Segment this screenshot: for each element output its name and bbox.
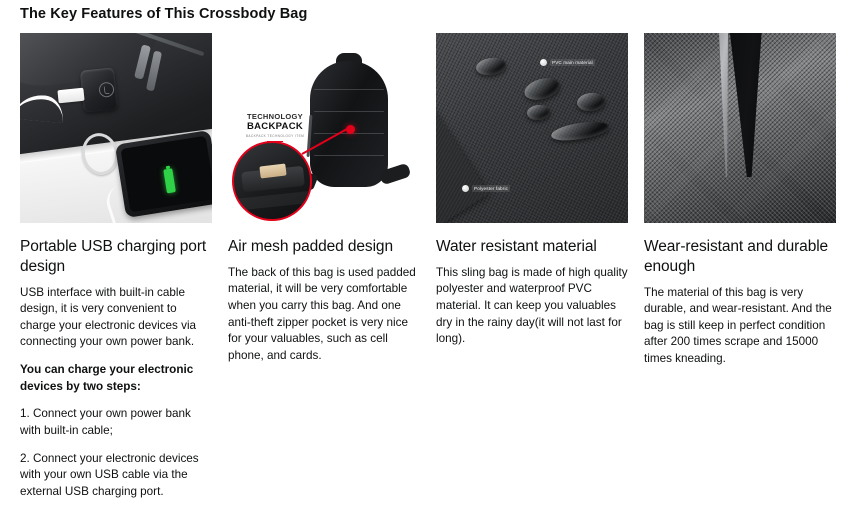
water-droplet [522,74,562,103]
feature-paragraph: The material of this bag is very durable… [644,285,836,368]
callout-magnifier-circle [232,141,312,221]
feature-heading: Portable USB charging port design [20,237,212,277]
usb-charging-port-photo [20,33,212,223]
feature-paragraph: 2. Connect your electronic devices with … [20,451,212,501]
water-droplets-fabric-photo: PVC main material Polyester fabric [436,33,628,223]
feature-column-1: Portable USB charging port design USB in… [20,33,212,511]
feature-heading: Air mesh padded design [228,237,420,257]
pocket-band [234,191,311,211]
usb-logo-icon [98,81,114,97]
knife-edge [712,33,728,177]
backpack-anti-theft-pocket-photo: TECHNOLOGY BACKPACK BACKPACK TECHNOLOGY … [228,33,420,223]
water-droplet [576,92,606,113]
fabric-fold [436,51,489,223]
feature-section: The Key Features of This Crossbody Bag [0,0,860,467]
brand-line-3: BACKPACK TECHNOLOGY ITEM [238,134,312,138]
tag-bullet-icon [540,59,547,66]
usb-port [80,67,118,112]
water-droplet [475,56,507,77]
tag-label: Polyester fabric [472,185,510,192]
usb-plug [57,88,84,104]
material-tag-polyester: Polyester fabric [462,185,510,192]
feature-body: This sling bag is made of high quality p… [436,265,628,348]
feature-paragraph: 1. Connect your own power bank with buil… [20,406,212,439]
feature-paragraph: This sling bag is made of high quality p… [436,265,628,348]
feature-column-4: Wear-resistant and durable enough The ma… [644,33,836,511]
feature-body: The back of this bag is used padded mate… [228,265,420,365]
feature-heading: Water resistant material [436,237,628,257]
feature-paragraph: USB interface with built-in cable design… [20,285,212,351]
knife-blade [722,33,762,177]
feature-body: USB interface with built-in cable design… [20,285,212,501]
callout-marker-dot-icon [346,125,355,134]
tag-label: PVC main material [550,59,595,66]
feature-grid: Portable USB charging port design USB in… [20,33,840,511]
feature-column-3: PVC main material Polyester fabric Water… [436,33,628,511]
feature-paragraph-bold: You can charge your electronic devices b… [20,362,212,395]
brand-line-2: BACKPACK [238,122,312,132]
water-droplet [526,104,550,121]
brand-lockup: TECHNOLOGY BACKPACK BACKPACK TECHNOLOGY … [238,113,312,142]
backpack-body [310,61,388,187]
battery-charging-icon [163,168,176,193]
feature-heading: Wear-resistant and durable enough [644,237,836,277]
material-tag-pvc: PVC main material [540,59,595,66]
tag-bullet-icon [462,185,469,192]
feature-body: The material of this bag is very durable… [644,285,836,368]
water-droplet [550,119,610,144]
feature-paragraph: The back of this bag is used padded mate… [228,265,420,365]
knife-scrape-fabric-photo [644,33,836,223]
page-title: The Key Features of This Crossbody Bag [20,6,307,22]
feature-column-2: TECHNOLOGY BACKPACK BACKPACK TECHNOLOGY … [228,33,420,511]
